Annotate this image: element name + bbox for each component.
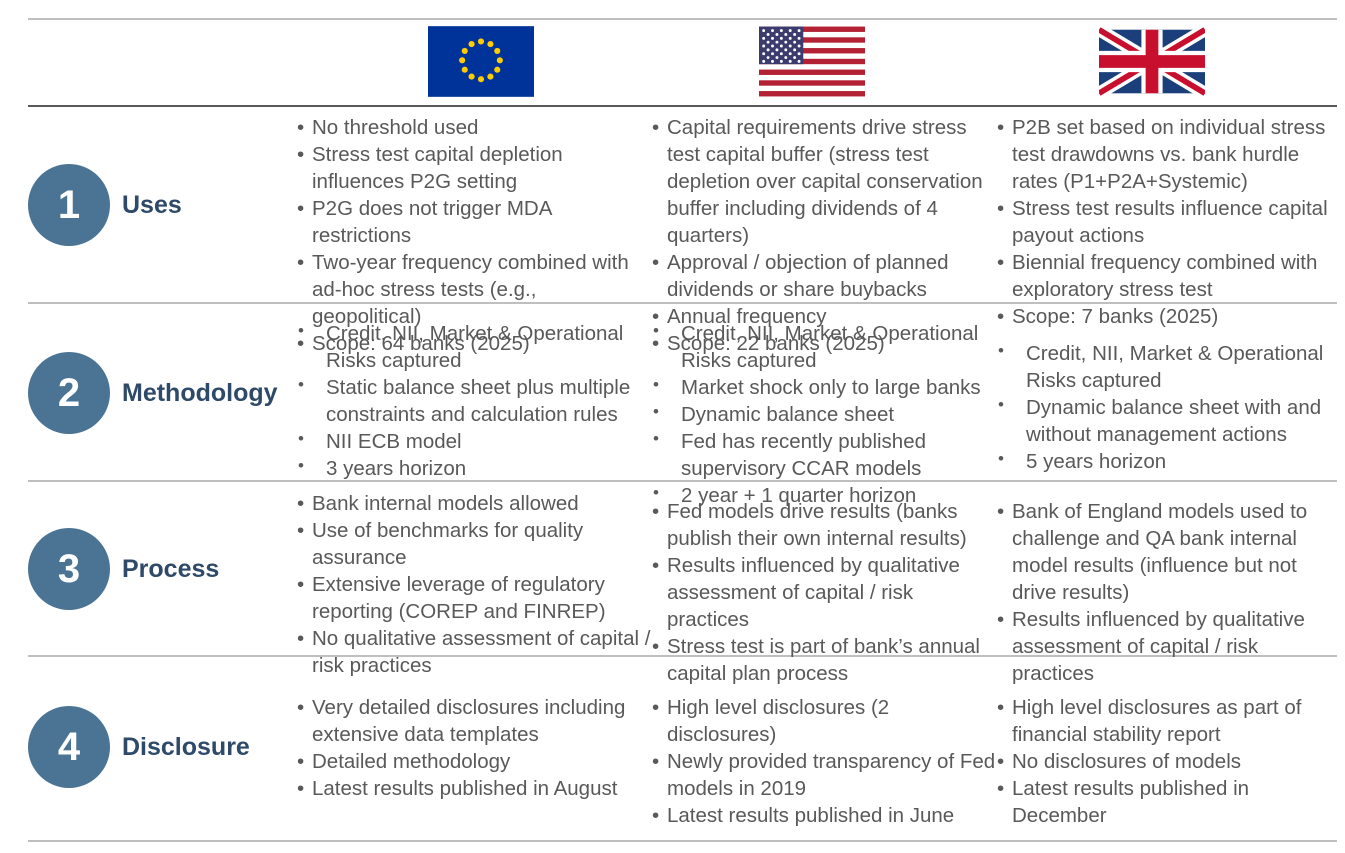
list-item: Latest results published in December bbox=[996, 775, 1341, 829]
list-item: 5 years horizon bbox=[996, 448, 1341, 475]
bullet-list-us: Fed models drive results (banks publish … bbox=[651, 490, 996, 687]
list-item: Fed has recently published supervisory C… bbox=[651, 428, 996, 482]
cell-eu: Credit, NII, Market & Operational Risks … bbox=[296, 312, 651, 482]
flag-cell-us bbox=[637, 26, 987, 97]
list-item: No qualitative assessment of capital / r… bbox=[296, 625, 651, 679]
list-item: High level disclosures as part of financ… bbox=[996, 694, 1341, 748]
row-title: Methodology bbox=[122, 379, 278, 408]
list-item: Static balance sheet plus multiple const… bbox=[296, 374, 651, 428]
cell-us: High level disclosures (2 disclosures) N… bbox=[651, 694, 996, 829]
bullet-list-eu: Credit, NII, Market & Operational Risks … bbox=[296, 312, 651, 482]
cell-uk: P2B set based on individual stress test … bbox=[996, 114, 1341, 330]
bullet-list-uk: High level disclosures as part of financ… bbox=[996, 694, 1341, 829]
list-item: Bank internal models allowed bbox=[296, 490, 651, 517]
list-item: NII ECB model bbox=[296, 428, 651, 455]
list-item: Latest results published in June bbox=[651, 802, 996, 829]
cell-us: Fed models drive results (banks publish … bbox=[651, 490, 996, 687]
list-item: Biennial frequency combined with explora… bbox=[996, 249, 1341, 303]
flag-cell-uk bbox=[977, 26, 1327, 97]
row-label-cell: 3 Process bbox=[0, 490, 296, 656]
table-row: 2 Methodology Credit, NII, Market & Oper… bbox=[0, 312, 1345, 478]
list-item: Stress test is part of bank’s annual cap… bbox=[651, 633, 996, 687]
list-item: High level disclosures (2 disclosures) bbox=[651, 694, 996, 748]
bullet-list-us: Credit, NII, Market & Operational Risks … bbox=[651, 312, 996, 509]
list-item: Market shock only to large banks bbox=[651, 374, 996, 401]
row-label-cell: 1 Uses bbox=[0, 114, 296, 300]
list-item: Stress test capital depletion influences… bbox=[296, 141, 651, 195]
list-item: Fed models drive results (banks publish … bbox=[651, 498, 996, 552]
united-kingdom-flag-icon bbox=[1099, 26, 1205, 97]
bullet-list-eu: Bank internal models allowed Use of benc… bbox=[296, 490, 651, 679]
list-item: Latest results published in August bbox=[296, 775, 651, 802]
list-item: Credit, NII, Market & Operational Risks … bbox=[296, 320, 651, 374]
row-number-badge: 3 bbox=[28, 528, 110, 610]
list-item: Stress test results influence capital pa… bbox=[996, 195, 1341, 249]
united-states-flag-icon bbox=[759, 26, 865, 97]
flag-header-row bbox=[0, 26, 1345, 106]
cell-uk: Credit, NII, Market & Operational Risks … bbox=[996, 312, 1341, 475]
list-item: Very detailed disclosures including exte… bbox=[296, 694, 651, 748]
row-title: Uses bbox=[122, 191, 182, 220]
divider-top bbox=[28, 18, 1337, 20]
list-item: Results influenced by qualitative assess… bbox=[996, 606, 1341, 687]
table-row: 4 Disclosure Very detailed disclosures i… bbox=[0, 694, 1345, 840]
list-item: Detailed methodology bbox=[296, 748, 651, 775]
list-item: Capital requirements drive stress test c… bbox=[651, 114, 996, 249]
list-item: Results influenced by qualitative assess… bbox=[651, 552, 996, 633]
row-number-badge: 4 bbox=[28, 706, 110, 788]
cell-uk: Bank of England models used to challenge… bbox=[996, 490, 1341, 687]
table-row: 1 Uses No threshold used Stress test cap… bbox=[0, 114, 1345, 300]
table-row: 3 Process Bank internal models allowed U… bbox=[0, 490, 1345, 656]
list-item: Approval / objection of planned dividend… bbox=[651, 249, 996, 303]
list-item: P2B set based on individual stress test … bbox=[996, 114, 1341, 195]
european-union-flag-icon bbox=[428, 26, 534, 97]
bullet-list-eu: Very detailed disclosures including exte… bbox=[296, 694, 651, 802]
bullet-list-uk: P2B set based on individual stress test … bbox=[996, 114, 1341, 330]
cell-uk: High level disclosures as part of financ… bbox=[996, 694, 1341, 829]
list-item: Bank of England models used to challenge… bbox=[996, 498, 1341, 606]
list-item: Use of benchmarks for quality assurance bbox=[296, 517, 651, 571]
row-label-cell: 2 Methodology bbox=[0, 312, 296, 478]
list-item: Newly provided transparency of Fed model… bbox=[651, 748, 996, 802]
cell-us: Credit, NII, Market & Operational Risks … bbox=[651, 312, 996, 509]
comparison-table: 1 Uses No threshold used Stress test cap… bbox=[0, 0, 1345, 853]
row-number-badge: 2 bbox=[28, 352, 110, 434]
list-item: Extensive leverage of regulatory reporti… bbox=[296, 571, 651, 625]
list-item: 3 years horizon bbox=[296, 455, 651, 482]
flag-cell-eu bbox=[306, 26, 656, 97]
divider-bottom bbox=[28, 840, 1337, 842]
row-title: Process bbox=[122, 555, 219, 584]
bullet-list-us: High level disclosures (2 disclosures) N… bbox=[651, 694, 996, 829]
list-item: Dynamic balance sheet with and without m… bbox=[996, 394, 1341, 448]
list-item: Credit, NII, Market & Operational Risks … bbox=[651, 320, 996, 374]
bullet-list-uk: Credit, NII, Market & Operational Risks … bbox=[996, 312, 1341, 475]
bullet-list-uk: Bank of England models used to challenge… bbox=[996, 490, 1341, 687]
row-number-badge: 1 bbox=[28, 164, 110, 246]
list-item: Dynamic balance sheet bbox=[651, 401, 996, 428]
row-title: Disclosure bbox=[122, 733, 250, 762]
list-item: No disclosures of models bbox=[996, 748, 1341, 775]
cell-eu: Very detailed disclosures including exte… bbox=[296, 694, 651, 802]
list-item: P2G does not trigger MDA restrictions bbox=[296, 195, 651, 249]
list-item: No threshold used bbox=[296, 114, 651, 141]
list-item: Credit, NII, Market & Operational Risks … bbox=[996, 340, 1341, 394]
row-label-cell: 4 Disclosure bbox=[0, 694, 296, 840]
cell-eu: Bank internal models allowed Use of benc… bbox=[296, 490, 651, 679]
